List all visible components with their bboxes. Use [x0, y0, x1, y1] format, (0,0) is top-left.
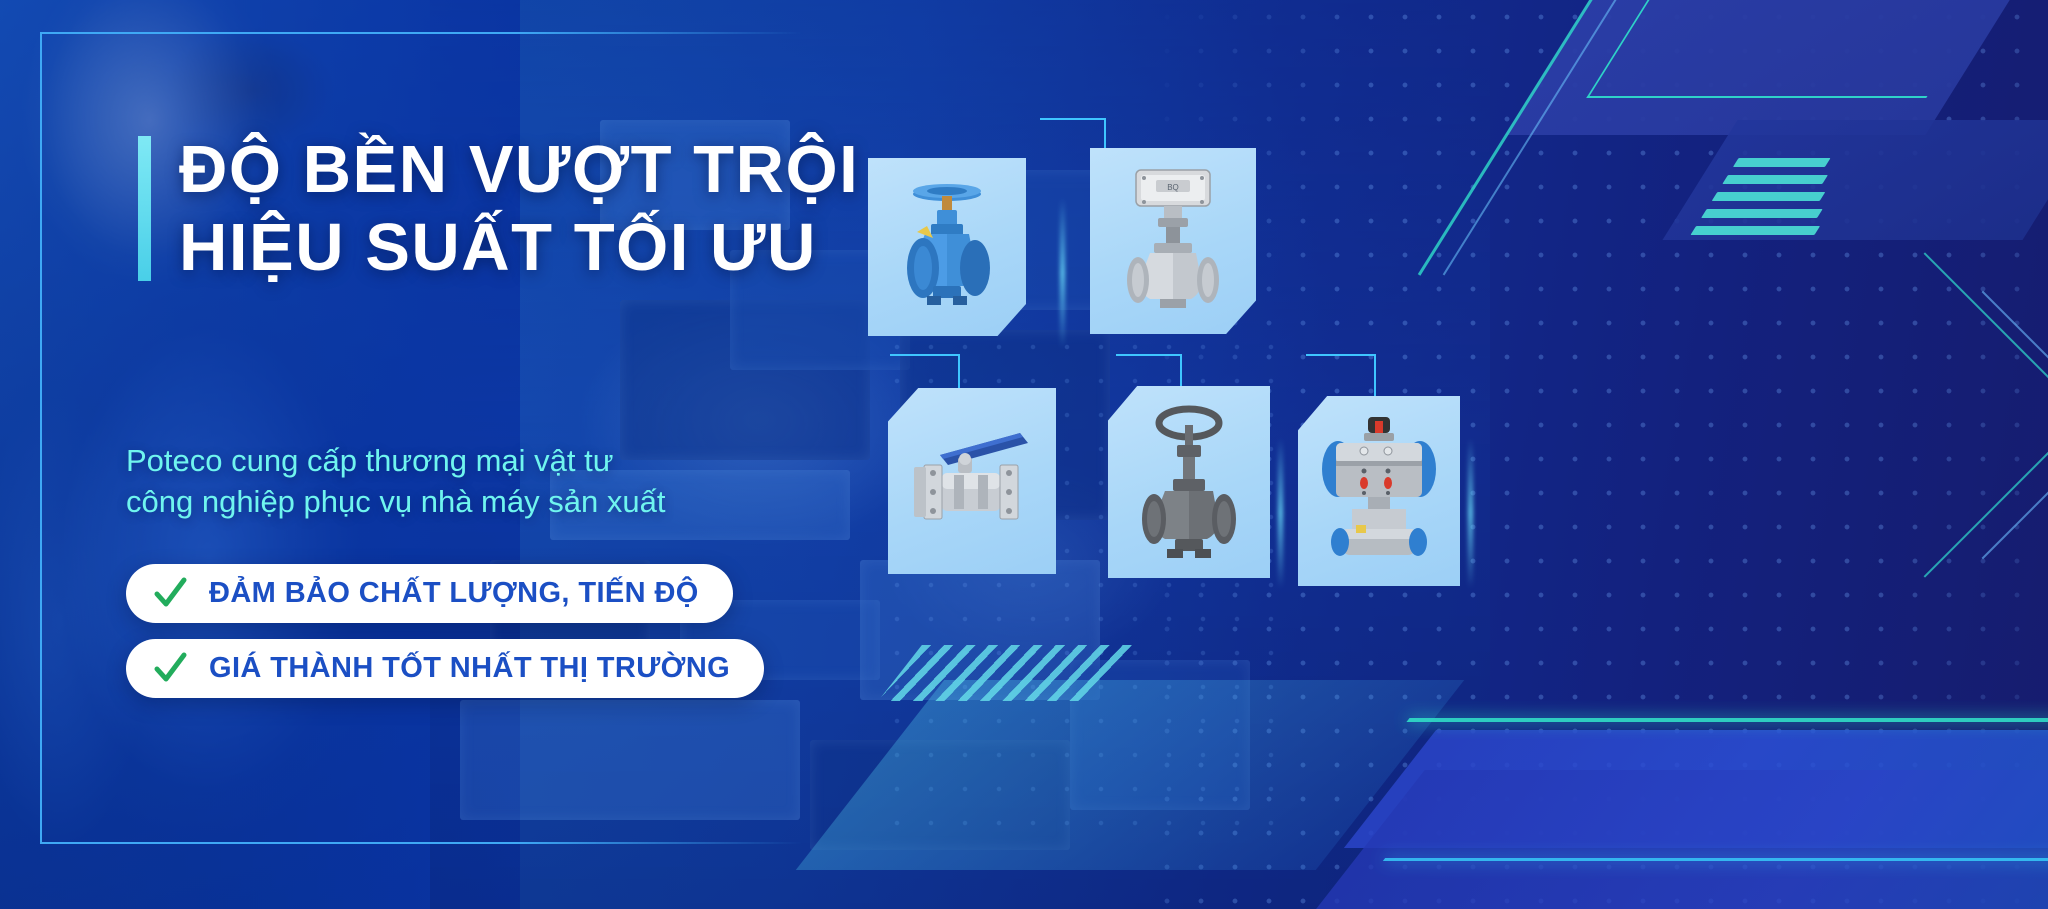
product-card-blue-gate-valve[interactable]: blue-gate-valve [868, 158, 1026, 336]
headline-block: ĐỘ BỀN VƯỢT TRỘI HIỆU SUẤT TỐI ƯU [138, 136, 859, 281]
promo-banner: ĐỘ BỀN VƯỢT TRỘI HIỆU SUẤT TỐI ƯU Poteco… [0, 0, 2048, 909]
cast-iron-globe-valve-image [1127, 403, 1251, 561]
pneumatic-actuator-ball-valve-image [1312, 413, 1446, 569]
headline-line-2: HIỆU SUẤT TỐI ƯU [179, 214, 859, 281]
headline-line-1: ĐỘ BỀN VƯỢT TRỘI [179, 136, 859, 203]
product-card-stainless-flanged-ball-valve[interactable]: stainless-flanged-ball-valve [888, 388, 1056, 574]
product-card-pneumatic-actuator-ball-valve[interactable]: pneumatic-actuator-ball-valve [1298, 396, 1460, 586]
product-gallery: blue-gate-valve electric-actu [868, 138, 2048, 818]
check-icon [154, 652, 187, 685]
glow-streak [1278, 438, 1283, 588]
benefit-pill-price[interactable]: GIÁ THÀNH TỐT NHẤT THỊ TRƯỜNG [126, 639, 764, 698]
svg-text:BQ: BQ [1167, 183, 1179, 192]
electric-actuator-ball-valve-image: BQ [1108, 162, 1238, 320]
check-icon [154, 577, 187, 610]
benefit-pill-label: GIÁ THÀNH TỐT NHẤT THỊ TRƯỜNG [209, 652, 730, 685]
subtitle-line-2: công nghiệp phục vụ nhà máy sản xuất [126, 481, 665, 522]
subtitle-block: Poteco cung cấp thương mại vật tư công n… [126, 440, 665, 522]
stainless-flanged-ball-valve-image [902, 421, 1042, 541]
benefit-pill-label: ĐẢM BẢO CHẤT LƯỢNG, TIẾN ĐỘ [209, 577, 699, 610]
subtitle-line-1: Poteco cung cấp thương mại vật tư [126, 440, 665, 481]
product-card-cast-iron-globe-valve[interactable]: cast-iron-globe-valve [1108, 386, 1270, 578]
product-card-electric-actuator-ball-valve[interactable]: electric-actuator-ball-valve BQ [1090, 148, 1256, 334]
benefits-list: ĐẢM BẢO CHẤT LƯỢNG, TIẾN ĐỘ GIÁ THÀNH TỐ… [126, 564, 764, 698]
headline-accent-bar [138, 136, 151, 281]
glow-streak [1060, 198, 1065, 348]
benefit-pill-quality[interactable]: ĐẢM BẢO CHẤT LƯỢNG, TIẾN ĐỘ [126, 564, 733, 623]
blue-gate-valve-image [887, 172, 1007, 322]
ribbon-edge-cyan [1383, 858, 2048, 861]
glow-streak [1468, 438, 1473, 588]
tech-outline-top-right [1586, 0, 1993, 98]
